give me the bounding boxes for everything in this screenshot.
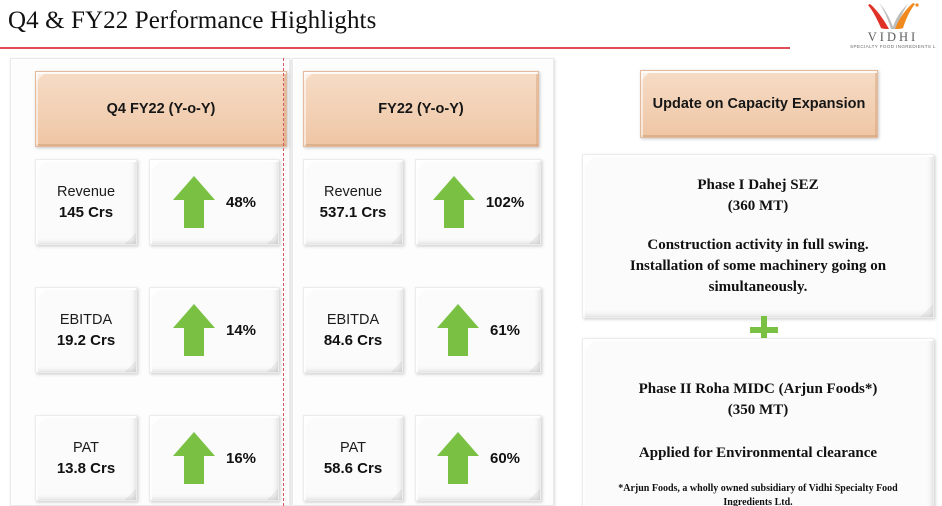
panel-heading-capacity: Update on Capacity Expansion [640, 70, 878, 138]
metric-value: 537.1 Crs [320, 202, 387, 223]
header-divider-rule [0, 47, 790, 49]
metric-label-box: Revenue 537.1 Crs [303, 159, 403, 245]
metric-change-box: 14% [149, 287, 279, 373]
panel-heading-fy22: FY22 (Y-o-Y) [303, 71, 539, 147]
phase1-title-line1: Phase I Dahej SEZ [697, 175, 818, 196]
metric-change-value: 14% [226, 322, 256, 339]
arrow-up-icon [172, 301, 216, 359]
capacity-phase-2-box: Phase II Roha MIDC (Arjun Foods*) (350 M… [582, 338, 934, 506]
metric-value: 19.2 Crs [57, 330, 115, 351]
panel-heading-q4: Q4 FY22 (Y-o-Y) [35, 71, 287, 147]
metric-label: PAT [340, 438, 366, 458]
metric-label-box: PAT 13.8 Crs [35, 415, 137, 501]
metric-label: Revenue [324, 182, 382, 202]
arrow-up-icon [436, 429, 480, 487]
metric-value: 13.8 Crs [57, 458, 115, 479]
metric-row-q4-pat: PAT 13.8 Crs 16% [35, 415, 279, 501]
arrow-up-icon [436, 301, 480, 359]
arrow-up-icon [172, 173, 216, 231]
metric-value: 145 Crs [59, 202, 113, 223]
metric-label: PAT [73, 438, 99, 458]
metric-change-box: 61% [415, 287, 541, 373]
page-title: Q4 & FY22 Performance Highlights [8, 7, 376, 35]
metric-value: 58.6 Crs [324, 458, 382, 479]
metric-row-q4-ebitda: EBITDA 19.2 Crs 14% [35, 287, 279, 373]
arrow-up-icon [432, 173, 476, 231]
metric-label-box: PAT 58.6 Crs [303, 415, 403, 501]
capacity-phase-1-box: Phase I Dahej SEZ (360 MT) Construction … [582, 154, 934, 318]
slide-header: Q4 & FY22 Performance Highlights VIDHI S… [0, 0, 942, 52]
metric-label: EBITDA [327, 310, 379, 330]
company-logo: VIDHI SPECIALTY FOOD INGREDIENTS L [850, 1, 936, 49]
phase2-title-line2: (350 MT) [728, 400, 788, 421]
metric-change-box: 102% [415, 159, 541, 245]
vidhi-v-logo-icon [850, 1, 936, 31]
metric-change-box: 16% [149, 415, 279, 501]
metric-row-fy22-revenue: Revenue 537.1 Crs 102% [303, 159, 541, 245]
phase2-title-line1: Phase II Roha MIDC (Arjun Foods*) [639, 379, 878, 400]
metric-value: 84.6 Crs [324, 330, 382, 351]
metric-change-value: 48% [226, 194, 256, 211]
metric-label: EBITDA [60, 310, 112, 330]
metric-row-q4-revenue: Revenue 145 Crs 48% [35, 159, 279, 245]
phase1-title-line2: (360 MT) [728, 196, 788, 217]
phase1-body-line3: simultaneously. [709, 277, 808, 298]
metric-row-fy22-pat: PAT 58.6 Crs 60% [303, 415, 541, 501]
metric-change-value: 60% [490, 450, 520, 467]
arrow-up-icon [172, 429, 216, 487]
slide-root: Q4 & FY22 Performance Highlights VIDHI S… [0, 0, 942, 506]
panel-divider-dashed [283, 58, 284, 506]
logo-wordmark: VIDHI [850, 31, 936, 43]
metric-change-value: 16% [226, 450, 256, 467]
metric-label: Revenue [57, 182, 115, 202]
panel-fy22: FY22 (Y-o-Y) Revenue 537.1 Crs 102% EBIT… [292, 58, 554, 506]
phase2-body-line1: Applied for Environmental clearance [639, 443, 877, 464]
metric-change-value: 102% [486, 194, 524, 211]
metric-label-box: EBITDA 84.6 Crs [303, 287, 403, 373]
phase2-footnote: *Arjun Foods, a wholly owned subsidiary … [583, 482, 933, 506]
panel-capacity-expansion: Update on Capacity Expansion Phase I Dah… [568, 58, 940, 506]
phase1-body-line2: Installation of some machinery going on [630, 256, 886, 277]
logo-tagline: SPECIALTY FOOD INGREDIENTS L [850, 43, 936, 50]
metric-row-fy22-ebitda: EBITDA 84.6 Crs 61% [303, 287, 541, 373]
metric-change-box: 60% [415, 415, 541, 501]
panel-q4-fy22: Q4 FY22 (Y-o-Y) Revenue 145 Crs 48% EBIT… [10, 58, 290, 506]
metric-label-box: EBITDA 19.2 Crs [35, 287, 137, 373]
metric-label-box: Revenue 145 Crs [35, 159, 137, 245]
metric-change-box: 48% [149, 159, 279, 245]
phase1-body-line1: Construction activity in full swing. [647, 235, 868, 256]
metric-change-value: 61% [490, 322, 520, 339]
